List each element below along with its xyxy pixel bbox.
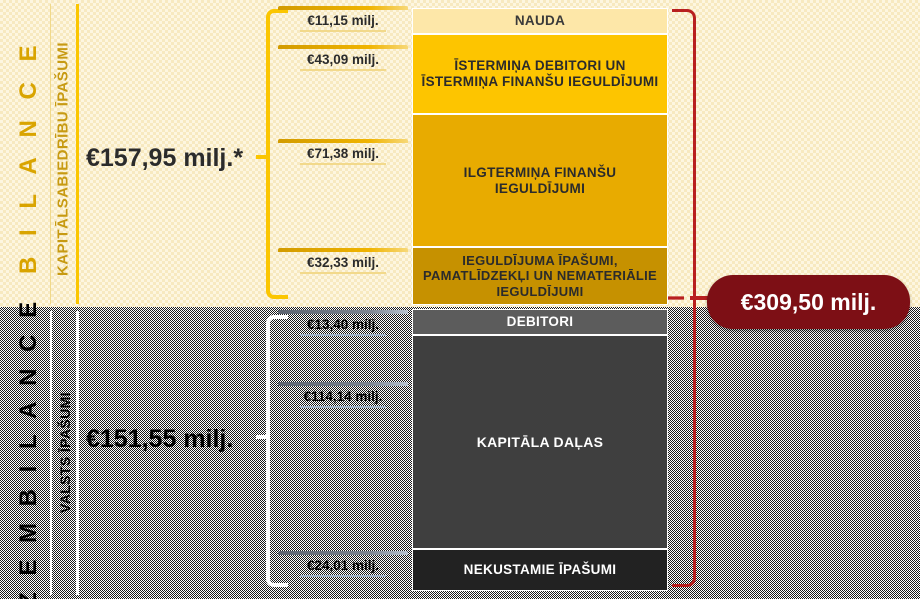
value-underline (300, 30, 386, 32)
category-block-nauda[interactable]: NAUDA (412, 8, 668, 34)
bilance-total: €157,95 milj.* (86, 144, 243, 173)
bilance-section-title: B I L A N C E (12, 36, 46, 276)
infographic-stage: B I L A N C E KAPITĀLSABIEDRĪBU ĪPAŠUMI … (0, 0, 920, 599)
value-underline (300, 334, 386, 336)
grand-total-badge: €309,50 milj. (707, 275, 910, 329)
value-text: €11,15 milj. (278, 10, 408, 30)
zembilance-thick-rule (76, 311, 79, 595)
category-block-kapitala-dalas[interactable]: KAPITĀLA DAĻAS (412, 335, 668, 549)
category-block-ilgtermina-finansu[interactable]: ILGTERMIŅA FINANŠU IEGULDĪJUMI (412, 114, 668, 247)
value-underline (300, 163, 386, 165)
category-block-nekustamie-ipasumi[interactable]: NEKUSTAMIE ĪPAŠUMI (412, 549, 668, 591)
category-label: ILGTERMIŅA FINANŠU IEGULDĪJUMI (413, 165, 667, 197)
value-underline (300, 406, 386, 408)
value-text: €24,01 milj. (278, 555, 408, 575)
zembilance-bracket (266, 315, 288, 587)
category-label: DEBITORI (501, 314, 580, 330)
bilance-thin-rule (50, 4, 51, 304)
value-label-kapitala-dalas: €114,14 milj. (278, 382, 408, 408)
value-underline (300, 272, 386, 274)
value-underline (300, 575, 386, 577)
value-text: €114,14 milj. (278, 386, 408, 406)
value-label-istermina: €43,09 milj. (278, 45, 408, 71)
category-label: NAUDA (509, 13, 571, 29)
value-text: €71,38 milj. (278, 143, 408, 163)
bilance-section-subtitle: KAPITĀLSABIEDRĪBU ĪPAŠUMI (52, 34, 74, 284)
value-label-debitori: €13,40 milj. (278, 310, 408, 336)
value-text: €13,40 milj. (278, 314, 408, 334)
value-text: €43,09 milj. (278, 49, 408, 69)
category-block-ieguldijuma-ipasumi[interactable]: IEGULDĪJUMA ĪPAŠUMI, PAMATLĪDZEKĻI UN NE… (412, 247, 668, 305)
category-block-istermina-debitori[interactable]: ĪSTERMIŅA DEBITORI UN ĪSTERMIŅA FINANŠU … (412, 34, 668, 114)
value-label-nauda: €11,15 milj. (278, 6, 408, 32)
category-label: NEKUSTAMIE ĪPAŠUMI (458, 562, 623, 578)
grand-total-label: €309,50 milj. (741, 289, 877, 316)
bilance-bracket-tick (256, 155, 270, 159)
zembilance-section-subtitle: VALSTS ĪPAŠUMI (54, 380, 76, 525)
category-label: ĪSTERMIŅA DEBITORI UN ĪSTERMIŅA FINANŠU … (413, 58, 667, 90)
value-label-nekustamie: €24,01 milj. (278, 551, 408, 577)
zembilance-bracket-tick (256, 435, 270, 439)
category-label: KAPITĀLA DAĻAS (471, 434, 610, 451)
zembilance-thin-rule (50, 311, 52, 595)
value-label-ieguldijuma: €32,33 milj. (278, 248, 408, 274)
zembilance-total: €151,55 milj. (86, 425, 233, 454)
value-text: €32,33 milj. (278, 252, 408, 272)
category-block-debitori[interactable]: DEBITORI (412, 309, 668, 335)
bilance-thick-rule (76, 4, 79, 304)
zembilance-section-title: Z E M B I L A N C E (12, 316, 46, 588)
category-label: IEGULDĪJUMA ĪPAŠUMI, PAMATLĪDZEKĻI UN NE… (413, 253, 667, 299)
value-underline (300, 69, 386, 71)
value-label-ilgtermina: €71,38 milj. (278, 139, 408, 165)
